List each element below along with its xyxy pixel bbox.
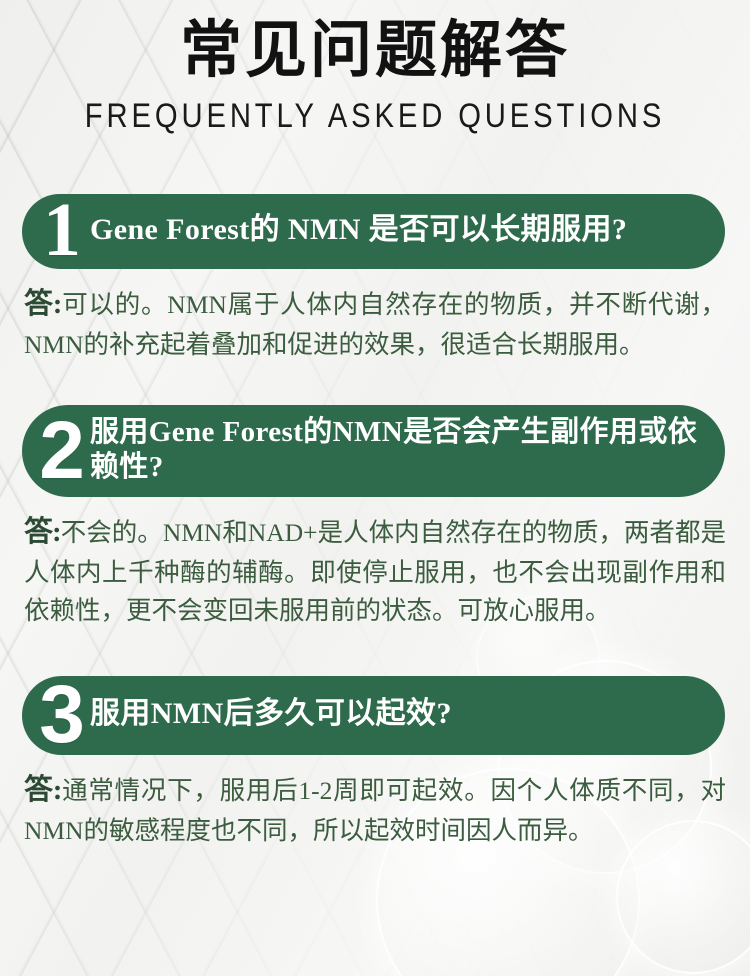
content-container: 常见问题解答 FREQUENTLY ASKED QUESTIONS 1 Gene… bbox=[0, 0, 750, 850]
question-text-1: Gene Forest的 NMN 是否可以长期服用? bbox=[90, 212, 699, 249]
question-number-2: 2 bbox=[36, 418, 88, 484]
page-title: 常见问题解答 bbox=[0, 18, 750, 85]
answer-text-1: 可以的。NMN属于人体内自然存在的物质，并不断代谢，NMN的补充起着叠加和促进的… bbox=[24, 290, 726, 359]
question-banner-2[interactable]: 2 服用Gene Forest的NMN是否会产生副作用或依赖性? bbox=[22, 405, 725, 497]
answer-label-3: 答: bbox=[24, 774, 61, 806]
page-subtitle: FREQUENTLY ASKED QUESTIONS bbox=[53, 97, 698, 136]
question-number-3: 3 bbox=[36, 682, 88, 748]
page-header: 常见问题解答 FREQUENTLY ASKED QUESTIONS bbox=[0, 0, 750, 136]
answer-text-2: 不会的。NMN和NAD+是人体内自然存在的物质，两者都是人体内上千种酶的辅酶。即… bbox=[24, 518, 726, 625]
question-banner-1[interactable]: 1 Gene Forest的 NMN 是否可以长期服用? bbox=[22, 194, 725, 269]
faq-item-3: 3 服用NMN后多久可以起效? 答:通常情况下，服用后1-2周即可起效。因个人体… bbox=[0, 676, 750, 850]
question-text-2: 服用Gene Forest的NMN是否会产生副作用或依赖性? bbox=[90, 415, 699, 486]
faq-page: 常见问题解答 FREQUENTLY ASKED QUESTIONS 1 Gene… bbox=[0, 0, 750, 976]
question-banner-3[interactable]: 3 服用NMN后多久可以起效? bbox=[22, 676, 725, 756]
answer-label-1: 答: bbox=[24, 288, 61, 320]
question-number-1: 1 bbox=[36, 200, 88, 261]
answer-block-1: 答:可以的。NMN属于人体内自然存在的物质，并不断代谢，NMN的补充起着叠加和促… bbox=[24, 283, 726, 364]
answer-text-3: 通常情况下，服用后1-2周即可起效。因个人体质不同，对NMN的敏感程度也不同，所… bbox=[24, 776, 726, 845]
answer-label-2: 答: bbox=[24, 516, 61, 548]
question-text-3: 服用NMN后多久可以起效? bbox=[90, 696, 699, 733]
faq-item-2: 2 服用Gene Forest的NMN是否会产生副作用或依赖性? 答:不会的。N… bbox=[0, 405, 750, 629]
answer-block-2: 答:不会的。NMN和NAD+是人体内自然存在的物质，两者都是人体内上千种酶的辅酶… bbox=[24, 511, 726, 629]
faq-item-1: 1 Gene Forest的 NMN 是否可以长期服用? 答:可以的。NMN属于… bbox=[0, 194, 750, 363]
answer-block-3: 答:通常情况下，服用后1-2周即可起效。因个人体质不同，对NMN的敏感程度也不同… bbox=[24, 769, 726, 850]
